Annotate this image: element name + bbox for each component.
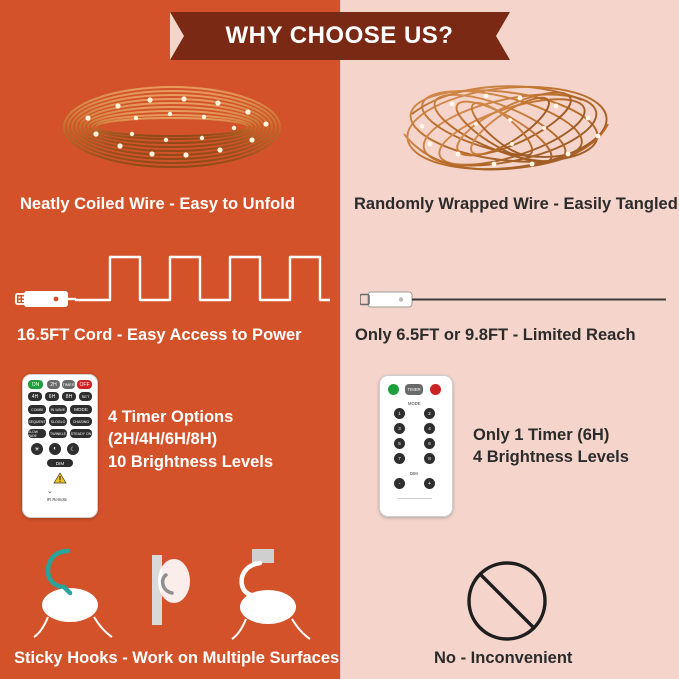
basic-remote-key-4[interactable]: 4	[424, 423, 435, 434]
ir-remote-full-icon: ON 2H TIMER OFF 4H 6H 8H SET COMBI IN WA…	[22, 374, 98, 518]
left-remote-line2: (2H/4H/6H/8H)	[108, 428, 273, 450]
remote-key-chasing[interactable]: CHASING	[70, 417, 92, 426]
remote-mode-button[interactable]: MODE	[70, 405, 92, 414]
ir-remote-basic-icon: TIMER MODE 1 2 3 4 5 6 7 8 DIM - +	[379, 375, 453, 517]
left-remote-caption: 4 Timer Options (2H/4H/6H/8H) 10 Brightn…	[108, 406, 273, 473]
right-remote-caption: Only 1 Timer (6H) 4 Brightness Levels	[473, 424, 629, 469]
remote-extra-button[interactable]: SET	[79, 392, 92, 401]
remote-dim-button[interactable]: DIM	[47, 459, 73, 467]
right-coil-caption: Randomly Wrapped Wire - Easily Tangled	[354, 194, 678, 215]
basic-remote-key-5[interactable]: 5	[394, 438, 405, 449]
basic-remote-key-3[interactable]: 3	[394, 423, 405, 434]
basic-remote-key-2[interactable]: 2	[424, 408, 435, 419]
remote-brightness-up[interactable]: ☀	[31, 443, 43, 455]
basic-remote-dim-label: DIM	[410, 471, 418, 476]
right-remote-line1: Only 1 Timer (6H)	[473, 424, 629, 446]
right-cord-caption: Only 6.5FT or 9.8FT - Limited Reach	[355, 325, 636, 346]
remote-8h-button[interactable]: 8H	[62, 392, 76, 401]
remote-key-combi[interactable]: COMBI	[28, 405, 46, 414]
coiled-wire-icon	[52, 72, 292, 182]
remote-warning-icon	[53, 471, 67, 483]
remote-on-button[interactable]: ON	[28, 380, 43, 389]
remote-key-inwave[interactable]: IN WAVE	[49, 405, 67, 414]
left-remote-line1: 4 Timer Options	[108, 406, 273, 428]
usb-cord-long-icon	[14, 235, 330, 318]
remote-brightness-mid[interactable]: ◐	[49, 443, 61, 455]
remote-key-sloglo[interactable]: SLOGLO	[49, 417, 67, 426]
basic-remote-off-button[interactable]	[430, 384, 441, 395]
remote-timer-button[interactable]: TIMER	[62, 380, 75, 389]
remote-brightness-down[interactable]: ☾	[67, 443, 79, 455]
basic-remote-plus-button[interactable]: +	[424, 478, 435, 489]
no-entry-icon	[464, 558, 550, 649]
basic-remote-timer-button[interactable]: TIMER	[405, 384, 423, 395]
column-divider	[340, 0, 341, 679]
remote-4h-button[interactable]: 4H	[28, 392, 42, 401]
basic-remote-minus-button[interactable]: -	[394, 478, 405, 489]
basic-remote-key-6[interactable]: 6	[424, 438, 435, 449]
left-cord-caption: 16.5FT Cord - Easy Access to Power	[17, 325, 302, 346]
remote-6h-button[interactable]: 6H	[45, 392, 59, 401]
basic-remote-mode-label: MODE	[408, 401, 421, 406]
tangled-wire-icon	[392, 74, 622, 182]
basic-remote-battery-line	[398, 498, 432, 499]
remote-footer-label: IR Remote	[47, 497, 67, 502]
right-hooks-caption: No - Inconvenient	[434, 648, 572, 669]
left-hooks-caption: Sticky Hooks - Work on Multiple Surfaces	[14, 648, 339, 669]
sticky-hook-icon	[24, 545, 324, 645]
remote-2h-button[interactable]: 2H	[47, 380, 60, 389]
basic-remote-key-1[interactable]: 1	[394, 408, 405, 419]
remote-key-steadyon[interactable]: STEADY ON	[70, 429, 92, 438]
banner: WHY CHOOSE US?	[170, 12, 510, 60]
comparison-infographic: Neatly Coiled Wire - Easy to Unfold	[0, 0, 679, 679]
remote-key-slowfade[interactable]: SLOW FADE	[28, 429, 46, 438]
left-remote-line3: 10 Brightness Levels	[108, 451, 273, 473]
basic-remote-key-8[interactable]: 8	[424, 453, 435, 464]
right-remote-line2: 4 Brightness Levels	[473, 446, 629, 468]
basic-remote-on-button[interactable]	[388, 384, 399, 395]
remote-key-twinkle[interactable]: TWINKLE	[49, 429, 67, 438]
basic-remote-key-7[interactable]: 7	[394, 453, 405, 464]
remote-off-button[interactable]: OFF	[77, 380, 92, 389]
left-coil-caption: Neatly Coiled Wire - Easy to Unfold	[20, 194, 295, 215]
remote-key-sequent[interactable]: SEQUENT	[28, 417, 46, 426]
banner-title: WHY CHOOSE US?	[226, 22, 454, 50]
left-column: Neatly Coiled Wire - Easy to Unfold	[0, 0, 340, 679]
usb-cord-short-icon	[360, 280, 670, 325]
right-column: Randomly Wrapped Wire - Easily Tangled O…	[340, 0, 679, 679]
remote-ir-emitter-icon: ⌄	[47, 487, 53, 495]
